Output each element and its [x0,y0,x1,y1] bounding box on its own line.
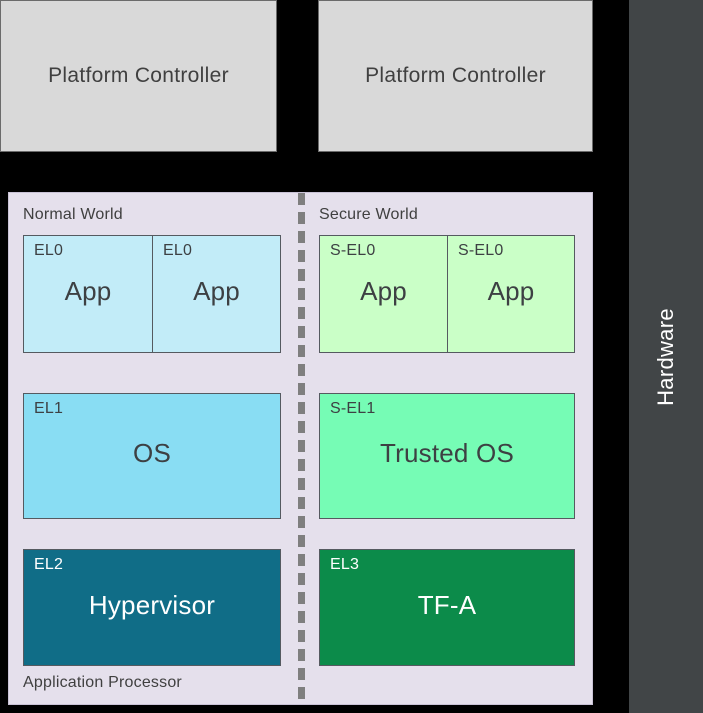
diagram-canvas: Platform Controller Platform Controller … [0,0,703,713]
normal-world-app-box-2: EL0 App [152,236,280,352]
hypervisor-title: Hypervisor [24,590,280,621]
normal-world-label: Normal World [23,206,123,224]
exception-level-tag: S-EL0 [330,242,375,260]
tfa-box: EL3 TF-A [319,549,575,666]
app-title: App [448,276,574,307]
secure-world-app-box-1: S-EL0 App [320,236,447,352]
trusted-os-box: S-EL1 Trusted OS [319,393,575,519]
exception-level-tag: S-EL1 [330,400,375,418]
app-title: App [24,276,152,307]
platform-controller-box-right: Platform Controller [318,0,593,152]
exception-level-tag: EL3 [330,556,359,574]
secure-world-app-box-2: S-EL0 App [447,236,574,352]
application-processor-label: Application Processor [23,674,182,692]
exception-level-tag: S-EL0 [458,242,503,260]
exception-level-tag: EL0 [163,242,192,260]
platform-controller-label-right: Platform Controller [365,64,546,88]
app-title: App [320,276,447,307]
app-title: App [153,276,280,307]
exception-level-tag: EL2 [34,556,63,574]
exception-level-tag: EL0 [34,242,63,260]
tfa-title: TF-A [320,590,574,621]
os-title: OS [24,438,280,469]
trusted-os-title: Trusted OS [320,438,574,469]
exception-level-tag: EL1 [34,400,63,418]
secure-world-label: Secure World [319,206,418,224]
platform-controller-box-left: Platform Controller [0,0,277,152]
normal-world-app-row: EL0 App EL0 App [23,235,281,353]
world-divider [298,193,305,706]
platform-controller-label-left: Platform Controller [48,64,229,88]
hypervisor-box: EL2 Hypervisor [23,549,281,666]
application-processor-panel: Normal World Secure World EL0 App EL0 Ap… [8,192,593,705]
hardware-panel: Hardware [629,0,703,713]
hardware-label: Hardware [653,308,679,406]
normal-world-app-box-1: EL0 App [24,236,152,352]
secure-world-app-row: S-EL0 App S-EL0 App [319,235,575,353]
normal-world-os-box: EL1 OS [23,393,281,519]
